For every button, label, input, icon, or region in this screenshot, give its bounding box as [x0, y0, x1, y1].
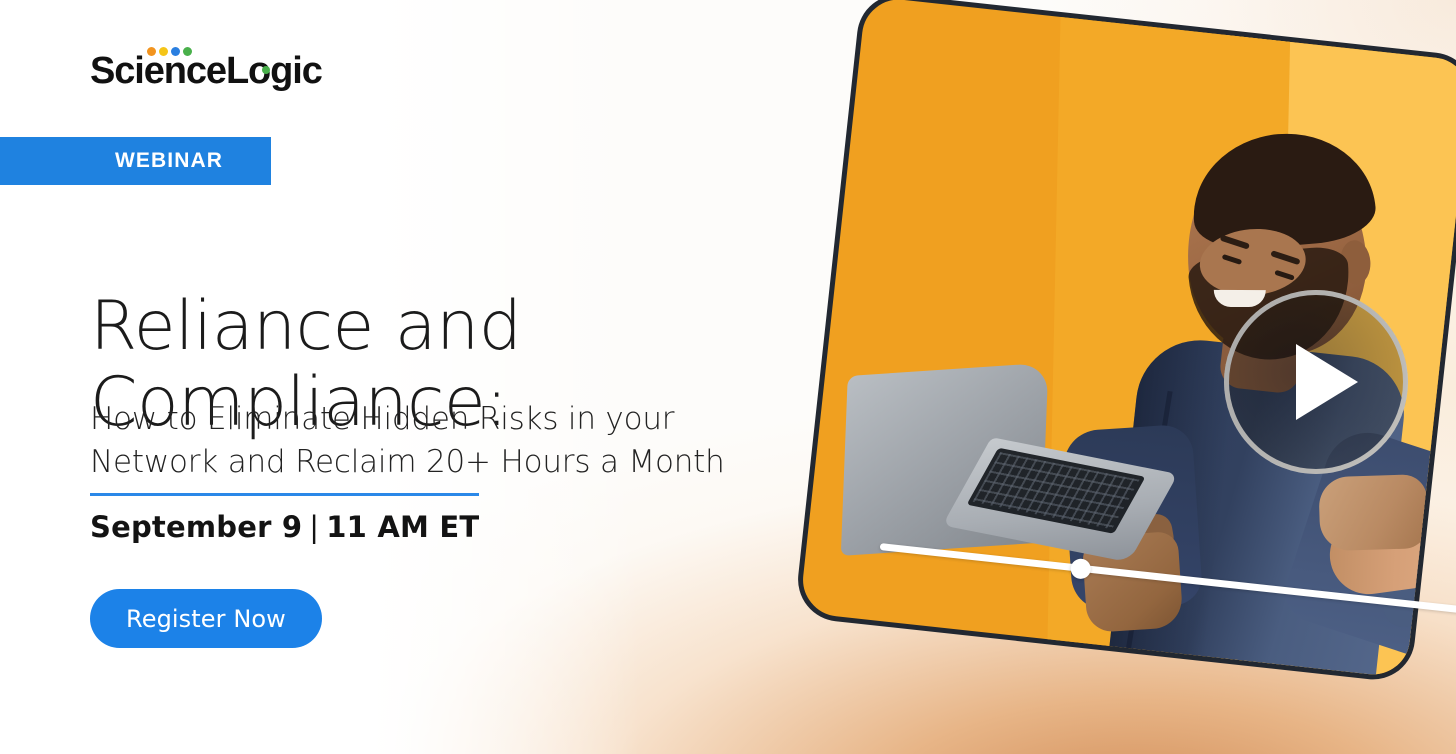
play-button[interactable] [1224, 290, 1408, 474]
sciencelogic-logo[interactable]: ScienceLogic [90, 44, 320, 100]
subhead-line-2: Network and Reclaim 20+ Hours a Month [90, 441, 790, 484]
page-subtitle: How to Eliminate Hidden Risks in your Ne… [90, 398, 790, 484]
register-now-button[interactable]: Register Now [90, 589, 322, 648]
event-datetime: September 9|11 AM ET [90, 510, 479, 544]
event-separator: | [302, 510, 326, 544]
webinar-badge-label: WEBINAR [115, 149, 223, 173]
headline-line-1: Reliance and [90, 289, 790, 365]
content-column: ScienceLogic WEBINAR Reliance and Compli… [0, 0, 800, 754]
logo-accent-dot [262, 66, 270, 74]
person-right-hand [1318, 474, 1428, 551]
subhead-line-1: How to Eliminate Hidden Risks in your [90, 398, 790, 441]
logo-wordmark: ScienceLogic [90, 50, 322, 93]
event-time: 11 AM ET [326, 510, 479, 544]
event-date: September 9 [90, 510, 302, 544]
webinar-badge: WEBINAR [0, 137, 271, 185]
divider [90, 493, 479, 496]
webinar-promo-banner: ScienceLogic WEBINAR Reliance and Compli… [0, 0, 1456, 754]
play-triangle-icon [1296, 344, 1358, 420]
